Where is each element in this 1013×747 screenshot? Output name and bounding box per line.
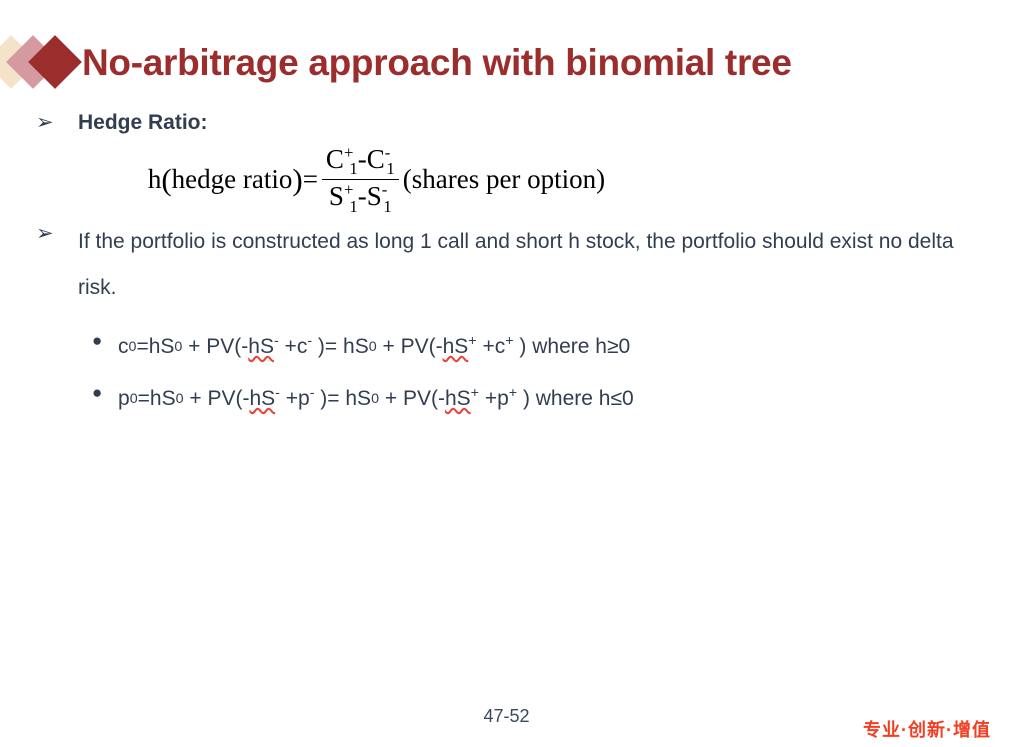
eq-condition: ≥0 <box>607 335 630 358</box>
eq-lead: p <box>118 387 130 410</box>
bullet-portfolio: ➢ If the portfolio is constructed as lon… <box>0 219 1013 311</box>
eq-spell2-sup: + <box>471 385 479 401</box>
eq-close1-sub: 0 <box>371 391 379 407</box>
num-term1-sub: 1 <box>349 159 357 178</box>
eq-part1: =hS <box>136 335 174 358</box>
num-term2: C <box>367 144 385 174</box>
eq-plus1: + PV(- <box>184 387 250 410</box>
list-item: ● p0=hS0 + PV(-hS- +p- )= hS0 + PV(-hS+ … <box>0 377 1013 415</box>
den-term1: S <box>329 181 344 211</box>
den-term2: S <box>367 181 382 211</box>
eq-mid1: +p <box>280 387 310 410</box>
list-item: ● c0=hS0 + PV(-hS- +c- )= hS0 + PV(-hS+ … <box>0 325 1013 363</box>
eq-plus2: + PV(- <box>377 335 443 358</box>
eq-mid2-sup: + <box>505 333 513 349</box>
eq-misspelled-token: hS <box>445 387 471 410</box>
eq-part1: =hS <box>138 387 176 410</box>
num-operator: - <box>358 144 367 174</box>
den-term2-sub: 1 <box>383 197 391 216</box>
eq-mid2: +p <box>479 387 509 410</box>
den-term1-sub: 1 <box>349 197 357 216</box>
eq-plus1: + PV(- <box>182 335 248 358</box>
page-number: 47-52 <box>0 706 1013 727</box>
slide-body: ➢ Hedge Ratio: h ( hedge ratio ) = C+1-C… <box>0 108 1013 415</box>
eq-mid1: +c <box>279 335 308 358</box>
formula-paren-open: ( <box>161 166 171 194</box>
arrow-bullet-icon: ➢ <box>36 219 78 249</box>
formula-paren-close: ) <box>292 166 302 194</box>
hedge-ratio-formula: h ( hedge ratio ) = C+1-C-1 S+1-S-1 (sha… <box>0 144 1013 215</box>
num-term1: C <box>326 144 344 174</box>
call-parity-equation: c0=hS0 + PV(-hS- +c- )= hS0 + PV(-hS+ +c… <box>118 325 630 363</box>
formula-equals: = <box>303 164 318 195</box>
diamond-logo-icon <box>0 30 86 94</box>
formula-denominator: S+1-S-1 <box>325 180 396 215</box>
num-term2-sub: 1 <box>386 159 394 178</box>
formula-fraction: C+1-C-1 S+1-S-1 <box>322 144 399 215</box>
formula-numerator: C+1-C-1 <box>322 144 399 179</box>
eq-lead-sub: 0 <box>130 391 138 407</box>
arrow-bullet-icon: ➢ <box>36 108 78 138</box>
eq-close2: ) where h <box>517 387 610 410</box>
eq-plus2: + PV(- <box>379 387 445 410</box>
round-bullet-icon: ● <box>92 325 118 357</box>
bullet-hedge-ratio: ➢ Hedge Ratio: <box>0 108 1013 138</box>
bullet-portfolio-text: If the portfolio is constructed as long … <box>78 219 978 311</box>
eq-close1: )= hS <box>314 387 371 410</box>
eq-mid2-sup: + <box>509 385 517 401</box>
formula-paren-arg: hedge ratio <box>172 164 293 195</box>
formula-units: (shares per option) <box>403 164 605 195</box>
eq-mid2: +c <box>477 335 506 358</box>
den-operator: - <box>358 181 367 211</box>
bullet-hedge-ratio-label: Hedge Ratio: <box>78 108 208 138</box>
eq-spell2-sup: + <box>468 333 476 349</box>
eq-misspelled-token: hS <box>443 335 469 358</box>
slide-header: No-arbitrage approach with binomial tree <box>0 30 792 94</box>
company-slogan: 专业·创新·增值 <box>863 716 991 742</box>
eq-lead: c <box>118 335 129 358</box>
page-title: No-arbitrage approach with binomial tree <box>82 44 792 81</box>
eq-condition: ≤0 <box>610 387 633 410</box>
eq-close1-sub: 0 <box>369 339 377 355</box>
eq-close1: )= hS <box>312 335 369 358</box>
formula-lhs: h <box>148 164 162 195</box>
eq-misspelled-token: hS <box>249 387 275 410</box>
round-bullet-icon: ● <box>92 377 118 409</box>
eq-misspelled-token: hS <box>248 335 274 358</box>
put-parity-equation: p0=hS0 + PV(-hS- +p- )= hS0 + PV(-hS+ +p… <box>118 377 634 415</box>
eq-part1-sub: 0 <box>176 391 184 407</box>
eq-close2: ) where h <box>514 335 607 358</box>
